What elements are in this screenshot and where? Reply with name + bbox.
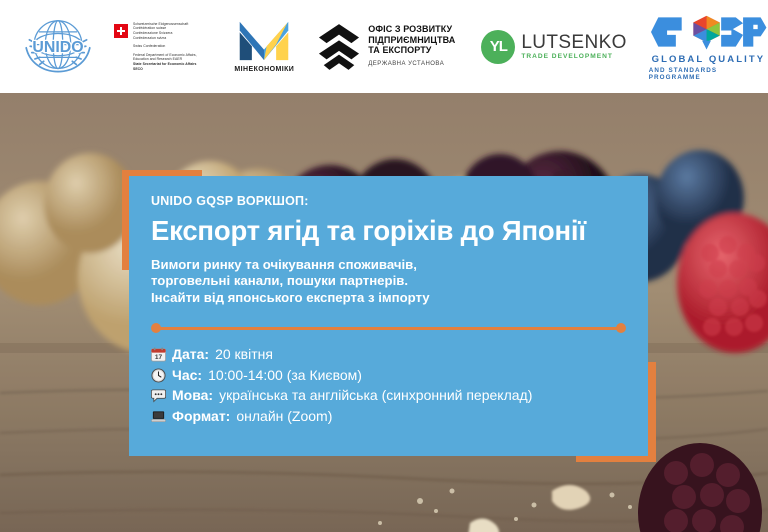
swiss-cross-icon [114,24,128,38]
swiss-line-en: Swiss Confederation [133,44,165,48]
gqsp-wordmark-icon [649,13,767,51]
svg-text:UNIDO: UNIDO [32,38,83,55]
calendar-icon: 17 [151,347,166,362]
minekonomiky-label: МІНЕКОНОМІКИ [234,66,294,73]
office-line-1: ОФІС З РОЗВИТКУ [368,24,455,35]
minekonomiky-mark-icon [238,20,290,62]
lutsenko-name: LUTSENKO [521,33,626,52]
event-meta-list: 17 Дата: 20 квітня Час: 10:00-14:00 (за … [151,344,626,426]
logo-minekonomiky: МІНЕКОНОМІКИ [234,20,294,73]
laptop-icon [151,409,166,424]
subhead-line-3: Інсайти від японського експерта з імпорт… [151,290,626,307]
gqsp-line-1: GLOBAL QUALITY [652,54,766,65]
meta-row-language: Мова: українська та англійська (синхронн… [151,385,626,406]
swiss-line-rm: Confederaziun svizra [133,36,166,40]
calendar-day-number: 17 [155,354,163,361]
logo-gqsp: GLOBAL QUALITY AND STANDARDS PROGRAMME [649,13,768,81]
office-line-2: ПІДПРИЄМНИЦТВА [368,35,455,46]
meta-label-format: Формат: [172,406,230,427]
subhead-line-2: торговельні канали, пошуки партнерів. [151,273,626,290]
logo-unido: UNIDO [0,16,98,78]
lutsenko-text: LUTSENKO TRADE DEVELOPMENT [521,33,626,61]
office-line-3: ТА ЕКСПОРТУ [368,45,455,56]
panel-eyebrow: UNIDO GQSP ВОРКШОП: [151,194,626,208]
logo-header-band: UNIDO Schweizerische Eidgenossenschaft C… [0,0,768,93]
swiss-dept-line1: Federal Department of Economic Affairs, [133,53,197,57]
export-office-chevron-icon [318,23,360,71]
swiss-dept-line2: Education and Research EAER [133,57,182,61]
logo-export-promotion-office: ОФІС З РОЗВИТКУ ПІДПРИЄМНИЦТВА ТА ЕКСПОР… [318,23,455,71]
divider-dot-right [616,323,626,333]
meta-label-time: Час: [172,365,202,386]
swiss-confederation-text: Schweizerische Eidgenossenschaft Confédé… [133,22,204,71]
meta-label-language: Мова: [172,385,213,406]
orange-divider [151,323,626,333]
panel-subheadline: Вимоги ринку та очікування споживачів, т… [151,257,626,307]
lutsenko-monogram-icon: YL [481,30,515,64]
meta-row-time: Час: 10:00-14:00 (за Києвом) [151,365,626,386]
event-info-panel: UNIDO GQSP ВОРКШОП: Експорт ягід та горі… [122,170,656,462]
swiss-line-it: Confederazione Svizzera [133,31,172,35]
gqsp-line-2: AND STANDARDS PROGRAMME [649,67,768,81]
meta-row-date: 17 Дата: 20 квітня [151,344,626,365]
meta-row-format: Формат: онлайн (Zoom) [151,406,626,427]
panel-headline: Експорт ягід та горіхів до Японії [151,217,626,246]
meta-value-format: онлайн (Zoom) [236,406,332,427]
clock-icon [151,368,166,383]
meta-value-date: 20 квітня [215,344,273,365]
logo-swiss-confederation: Schweizerische Eidgenossenschaft Confédé… [114,22,204,71]
swiss-dept-line3: State Secretariat for Economic Affairs S… [133,62,197,71]
meta-value-time: 10:00-14:00 (за Києвом) [208,365,362,386]
meta-value-language: українська та англійська (синхронний пер… [219,385,532,406]
unido-icon: UNIDO [18,16,98,78]
lutsenko-tagline: TRADE DEVELOPMENT [521,54,626,61]
export-office-text: ОФІС З РОЗВИТКУ ПІДПРИЄМНИЦТВА ТА ЕКСПОР… [368,24,455,69]
logo-lutsenko-trade-development: YL LUTSENKO TRADE DEVELOPMENT [481,30,626,64]
subhead-line-1: Вимоги ринку та очікування споживачів, [151,257,626,274]
swiss-line-fr: Confédération suisse [133,26,166,30]
speech-balloon-icon [151,388,166,403]
panel-body: UNIDO GQSP ВОРКШОП: Експорт ягід та горі… [129,176,648,456]
swiss-line-de: Schweizerische Eidgenossenschaft [133,22,188,26]
meta-label-date: Дата: [172,344,209,365]
office-subtitle: ДЕРЖАВНА УСТАНОВА [368,59,455,70]
divider-bar [155,327,622,330]
